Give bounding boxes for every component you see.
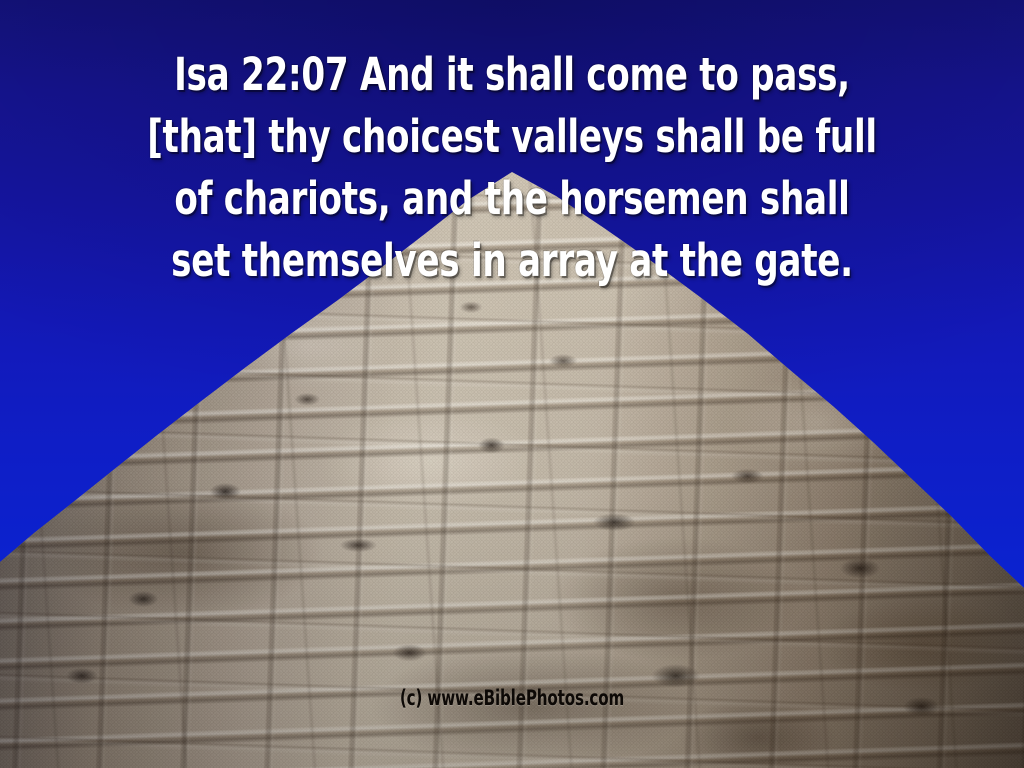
verse-image-canvas: Isa 22:07 And it shall come to pass, [th…	[0, 0, 1024, 768]
copyright-watermark: (c) www.eBiblePhotos.com	[143, 686, 880, 710]
verse-text: Isa 22:07 And it shall come to pass, [th…	[123, 44, 901, 292]
